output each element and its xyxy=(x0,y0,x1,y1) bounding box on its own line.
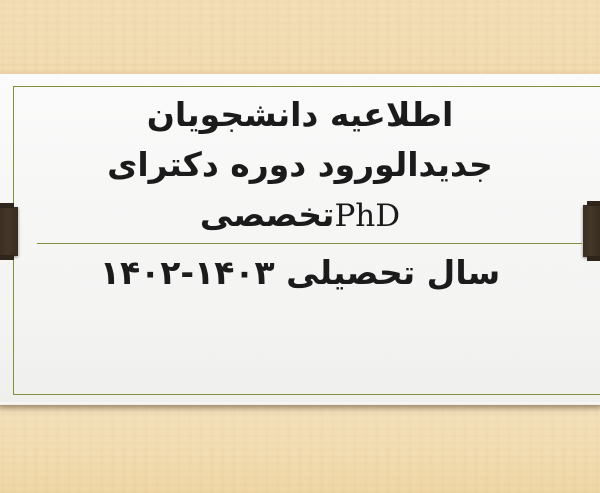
headline-line-1: اطلاعیه دانشجویان xyxy=(14,98,586,131)
left-ribbon-tab xyxy=(0,207,18,256)
academic-year-line: سال تحصیلی ۱۴۰۳-۱۴۰۲ xyxy=(14,256,586,289)
white-content-panel: اطلاعیه دانشجویان جدیدالورود دوره دکترای… xyxy=(0,74,600,405)
headline-line-3: PhDتخصصی xyxy=(14,198,586,232)
panel-drop-shadow xyxy=(0,405,600,412)
phd-label: PhD xyxy=(334,201,400,232)
olive-divider-rule xyxy=(37,243,582,244)
poster-slide: اطلاعیه دانشجویان جدیدالورود دوره دکترای… xyxy=(0,0,600,493)
poster-text-block: اطلاعیه دانشجویان جدیدالورود دوره دکترای… xyxy=(14,86,586,393)
headline-line-2: جدیدالورود دوره دکترای xyxy=(14,148,586,181)
headline-line-3-persian: تخصصی xyxy=(200,195,335,234)
right-ribbon-tab xyxy=(583,205,600,257)
